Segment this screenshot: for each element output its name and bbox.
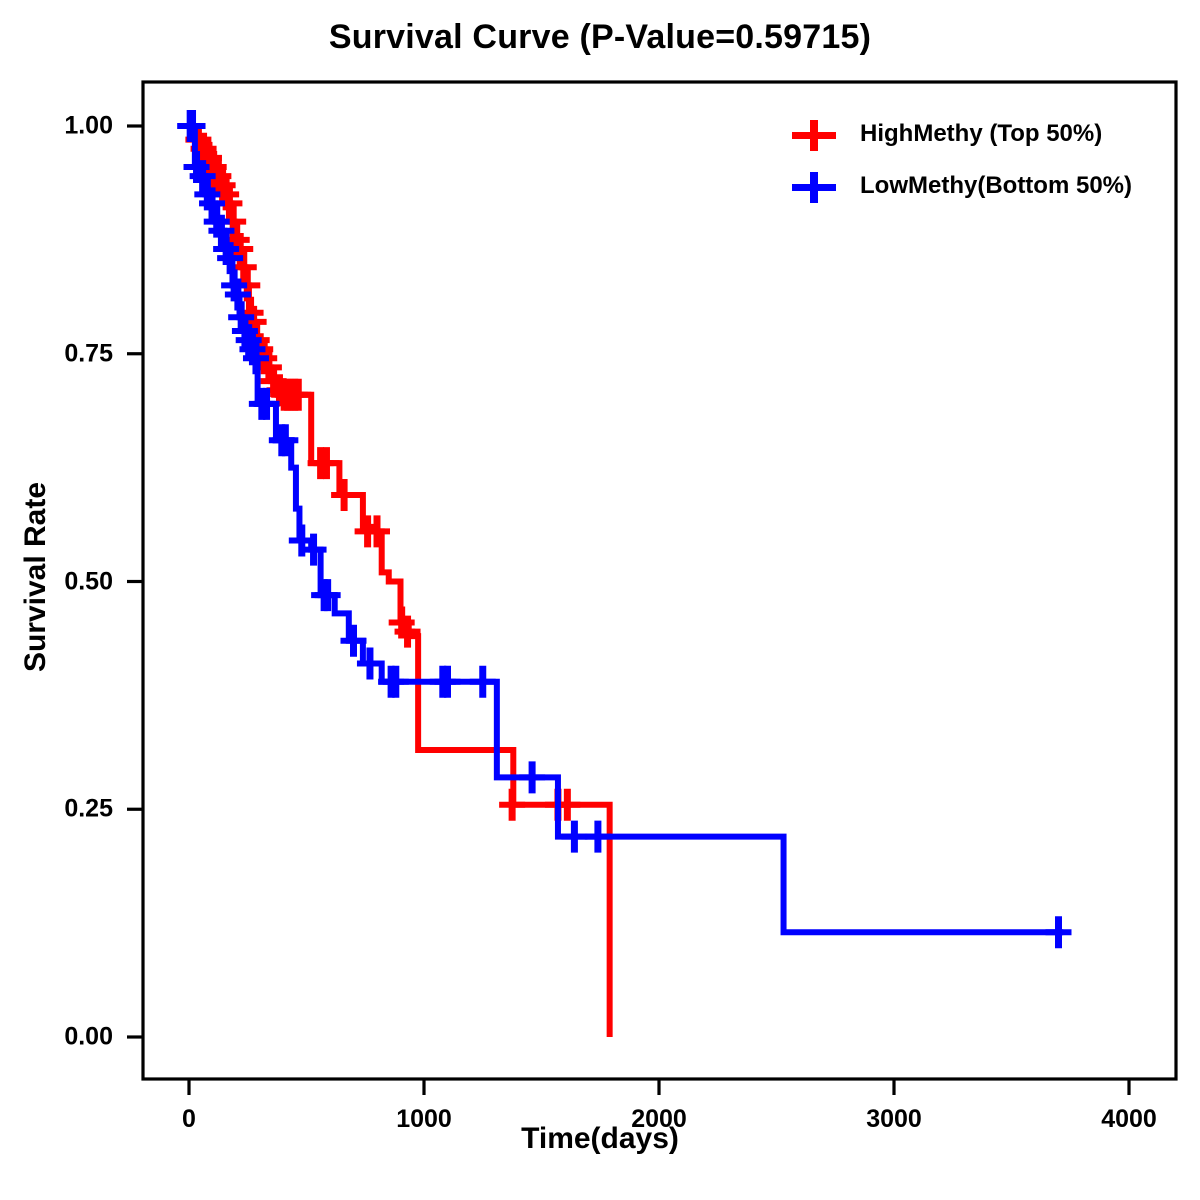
x-tick-label: 1000 <box>354 1105 494 1134</box>
survival-step-line <box>189 126 1063 932</box>
censor-plus-icon <box>1046 916 1072 948</box>
legend-label-highmethy: HighMethy (Top 50%) <box>860 120 1102 148</box>
x-tick-label: 2000 <box>589 1105 729 1134</box>
y-tick-label: 0.75 <box>3 339 113 368</box>
plus-marker-icon <box>786 114 842 154</box>
censor-plus-icon <box>331 479 357 511</box>
censor-plus-icon <box>435 666 461 698</box>
y-tick-label: 0.50 <box>3 567 113 596</box>
series-0 <box>185 124 609 1037</box>
y-tick-label: 0.00 <box>3 1023 113 1052</box>
survival-step-line <box>189 126 610 1037</box>
legend-item-highmethy[interactable]: HighMethy (Top 50%) <box>786 108 1132 160</box>
y-tick-label: 0.25 <box>3 795 113 824</box>
series-1 <box>177 110 1071 948</box>
censor-plus-icon <box>561 821 587 853</box>
plus-marker-icon <box>786 166 842 206</box>
legend-label-lowmethy: LowMethy(Bottom 50%) <box>860 172 1132 200</box>
chart-root: Survival Curve (P-Value=0.59715) Surviva… <box>0 0 1200 1200</box>
legend-item-lowmethy[interactable]: LowMethy(Bottom 50%) <box>786 160 1132 212</box>
censor-plus-icon <box>519 761 545 793</box>
x-tick-label: 4000 <box>1059 1105 1199 1134</box>
censor-plus-icon <box>470 666 496 698</box>
x-tick-label: 0 <box>119 1105 259 1134</box>
chart-legend: HighMethy (Top 50%) LowMethy(Bottom 50%) <box>786 108 1132 212</box>
y-tick-label: 1.00 <box>3 112 113 141</box>
censor-plus-icon <box>383 666 409 698</box>
censor-plus-icon <box>499 789 525 821</box>
x-tick-label: 3000 <box>824 1105 964 1134</box>
